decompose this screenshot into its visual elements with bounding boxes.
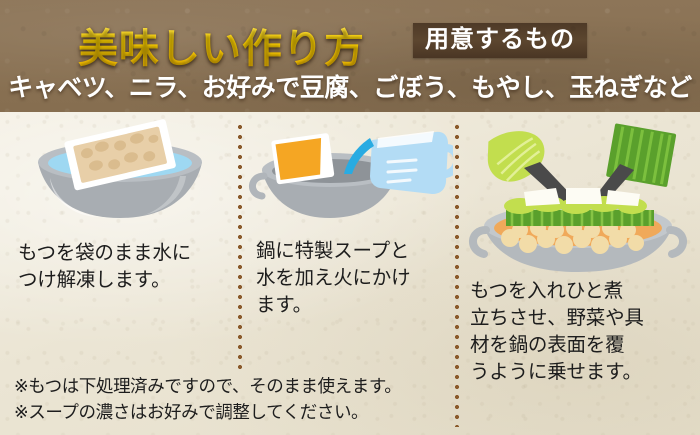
step-2-text: 鍋に特製スープと水を加え火にかけます。: [248, 238, 448, 319]
step-1-text: もつを袋のまま水につけ解凍します。: [8, 240, 233, 294]
footnote-2: ※スープの濃さはお好みで調整してください。: [14, 400, 444, 426]
recipe-infographic: 美味しい作り方 用意するもの キャベツ、ニラ、お好みで豆腐、ごぼう、もやし、玉ね…: [0, 0, 700, 435]
step-3-text: もつを入れひと煮立ちさせ、野菜や具材を鍋の表面を覆うように乗せます。: [462, 278, 697, 386]
bowl-with-water-and-frozen-pack-illustration: [8, 118, 233, 240]
header-title-row: 美味しい作り方 用意するもの: [0, 8, 700, 64]
column-divider-1: [238, 122, 242, 372]
step-2: 鍋に特製スープと水を加え火にかけます。: [248, 118, 448, 319]
page-title: 美味しい作り方: [78, 16, 365, 74]
footnote-1: ※もつは下処理済みですので、そのまま使えます。: [14, 374, 444, 400]
column-divider-2: [455, 122, 459, 427]
pot-with-motsu-vegetables-and-arrows-illustration: [462, 118, 697, 278]
pot-with-motsu-vegetables-and-arrows-illustration-wrap: もつを入れひと煮立ちさせ、野菜や具材を鍋の表面を覆うように乗せます。: [462, 118, 697, 386]
pot-with-soup-packet-and-water-pitcher-illustration: [248, 118, 448, 238]
prepare-items-badge: 用意するもの: [413, 23, 587, 58]
step-1: もつを袋のまま水につけ解凍します。: [8, 118, 233, 294]
footnotes: ※もつは下処理済みですので、そのまま使えます。 ※スープの濃さはお好みで調整して…: [14, 374, 444, 426]
ingredients-list: キャベツ、ニラ、お好みで豆腐、ごぼう、もやし、玉ねぎなど: [0, 68, 700, 104]
header-banner: 美味しい作り方 用意するもの キャベツ、ニラ、お好みで豆腐、ごぼう、もやし、玉ね…: [0, 0, 700, 112]
